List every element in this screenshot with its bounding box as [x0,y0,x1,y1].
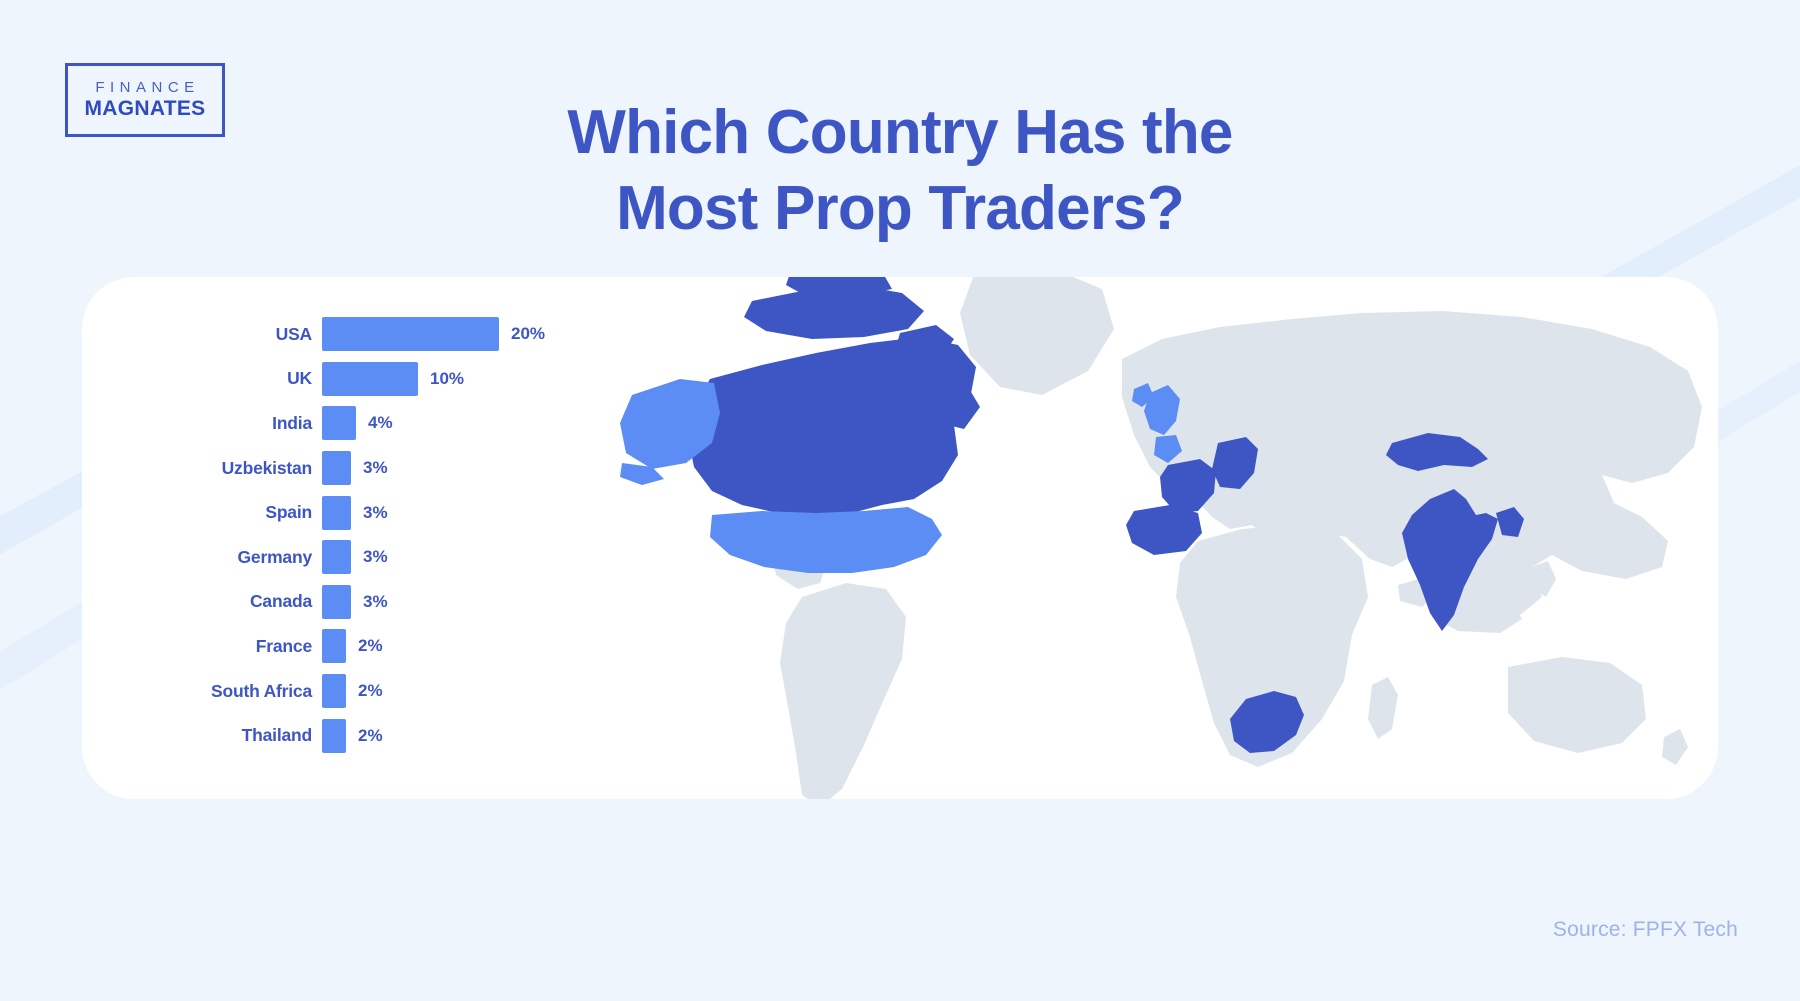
map-highlight-canada [688,277,980,517]
chart-row-france: France 2% [162,624,582,669]
chart-value-spain: 3% [351,503,388,523]
chart-label-uk: UK [162,368,322,389]
chart-row-south-africa: South Africa 2% [162,669,582,714]
chart-bar-south-africa [322,674,346,708]
infographic-card: USA 20% UK 10% India 4% Uzbekistan 3% Sp… [82,277,1718,799]
chart-bar-spain [322,496,351,530]
title-line-1: Which Country Has the [0,95,1800,171]
chart-value-thailand: 2% [346,726,383,746]
chart-bar-uk [322,362,418,396]
chart-label-spain: Spain [162,502,322,523]
title-line-2: Most Prop Traders? [0,171,1800,247]
chart-value-india: 4% [356,413,393,433]
chart-value-uzbekistan: 3% [351,458,388,478]
chart-row-germany: Germany 3% [162,535,582,580]
chart-row-india: India 4% [162,401,582,446]
chart-bar-india [322,406,356,440]
chart-bar-germany [322,540,351,574]
chart-value-france: 2% [346,636,383,656]
chart-value-south-africa: 2% [346,681,383,701]
chart-row-canada: Canada 3% [162,580,582,625]
bar-chart: USA 20% UK 10% India 4% Uzbekistan 3% Sp… [162,312,582,758]
chart-label-germany: Germany [162,547,322,568]
chart-bar-canada [322,585,351,619]
chart-row-thailand: Thailand 2% [162,713,582,758]
page-title: Which Country Has the Most Prop Traders? [0,95,1800,246]
chart-value-germany: 3% [351,547,388,567]
chart-value-canada: 3% [351,592,388,612]
chart-value-usa: 20% [499,324,545,344]
chart-bar-uzbekistan [322,451,351,485]
chart-value-uk: 10% [418,369,464,389]
source-credit: Source: FPFX Tech [1553,918,1738,942]
chart-label-south-africa: South Africa [162,681,322,702]
chart-bar-usa [322,317,499,351]
chart-label-uzbekistan: Uzbekistan [162,458,322,479]
logo-text-finance: FINANCE [90,79,199,96]
chart-row-spain: Spain 3% [162,490,582,535]
chart-label-france: France [162,636,322,657]
chart-row-uzbekistan: Uzbekistan 3% [162,446,582,491]
chart-label-canada: Canada [162,591,322,612]
chart-label-thailand: Thailand [162,725,322,746]
chart-label-india: India [162,413,322,434]
chart-row-usa: USA 20% [162,312,582,357]
chart-label-usa: USA [162,324,322,345]
world-map [602,277,1718,799]
chart-bar-thailand [322,719,346,753]
chart-row-uk: UK 10% [162,357,582,402]
chart-bar-france [322,629,346,663]
